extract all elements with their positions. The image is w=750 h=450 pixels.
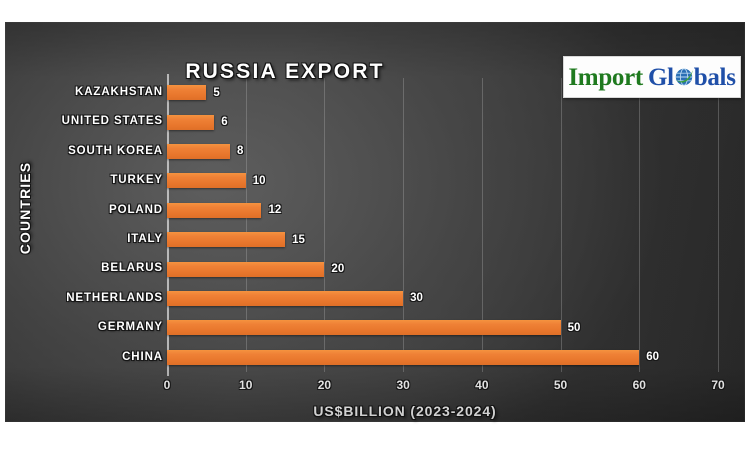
x-tick-label: 10	[239, 378, 252, 392]
bar[interactable]	[167, 203, 261, 218]
bar-value-label: 10	[253, 175, 266, 187]
bar-row: 60	[167, 343, 718, 372]
value-axis-tick-labels: 010203040506070	[167, 378, 718, 396]
category-label: ITALY	[127, 225, 163, 254]
chart-panel: RUSSIA EXPORT Import Gl bals	[5, 22, 745, 422]
bar[interactable]	[167, 232, 285, 247]
bar-value-label: 20	[331, 263, 344, 275]
logo-import-word: Import	[568, 65, 643, 90]
category-label: NETHERLANDS	[66, 284, 163, 313]
bar[interactable]	[167, 350, 639, 365]
logo-text: Import Gl bals	[568, 65, 735, 90]
bar-row: 12	[167, 196, 718, 225]
x-tick-label: 50	[554, 378, 567, 392]
category-label: SOUTH KOREA	[68, 137, 163, 166]
bar[interactable]	[167, 144, 230, 159]
category-label: GERMANY	[98, 313, 163, 342]
bar-value-label: 30	[410, 292, 423, 304]
globe-icon	[674, 67, 694, 87]
bar[interactable]	[167, 85, 206, 100]
bar-row: 20	[167, 254, 718, 283]
category-axis-labels: KAZAKHSTANUNITED STATESSOUTH KOREATURKEY…	[45, 78, 163, 372]
x-tick-label: 40	[475, 378, 488, 392]
category-label: BELARUS	[101, 254, 163, 283]
bar-row: 30	[167, 284, 718, 313]
bar[interactable]	[167, 262, 324, 277]
bar-row: 8	[167, 137, 718, 166]
bar-value-label: 8	[237, 145, 243, 157]
x-axis-title: US$BILLION (2023-2024)	[125, 403, 685, 419]
bar-value-label: 12	[268, 204, 281, 216]
bar-value-label: 15	[292, 234, 305, 246]
x-tick-label: 60	[633, 378, 646, 392]
bar-value-label: 5	[213, 87, 219, 99]
bar-row: 6	[167, 107, 718, 136]
x-tick-label: 70	[711, 378, 724, 392]
bar-value-label: 50	[568, 322, 581, 334]
bar-row: 10	[167, 166, 718, 195]
bar[interactable]	[167, 115, 214, 130]
bar[interactable]	[167, 320, 561, 335]
plot-area: 56810121520305060	[167, 78, 718, 372]
category-label: CHINA	[122, 343, 163, 372]
x-tick-label: 0	[164, 378, 171, 392]
bar[interactable]	[167, 291, 403, 306]
bar-value-label: 60	[646, 351, 659, 363]
logo-bals-fragment: bals	[694, 65, 736, 90]
logo-gl-fragment: Gl	[648, 65, 674, 90]
x-tick-label: 30	[396, 378, 409, 392]
bar-row: 50	[167, 313, 718, 342]
bar-row: 15	[167, 225, 718, 254]
category-label: TURKEY	[110, 166, 163, 195]
bar[interactable]	[167, 173, 246, 188]
import-globals-logo: Import Gl bals	[563, 56, 741, 98]
category-label: POLAND	[109, 196, 163, 225]
bar-value-label: 6	[221, 116, 227, 128]
category-label: UNITED STATES	[62, 107, 163, 136]
gridline	[718, 78, 719, 372]
chart-title: RUSSIA EXPORT	[5, 60, 565, 84]
chart-screenshot: RUSSIA EXPORT Import Gl bals	[0, 0, 750, 450]
y-axis-title: COUNTRIES	[17, 108, 33, 308]
x-tick-label: 20	[318, 378, 331, 392]
